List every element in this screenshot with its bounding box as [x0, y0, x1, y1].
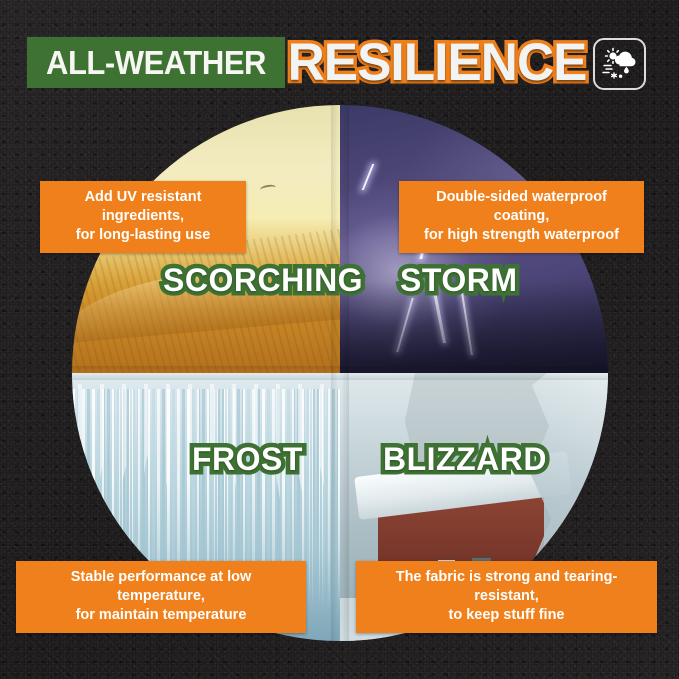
quadrant-title-blizzard: BLIZZARD [383, 441, 547, 478]
caption-frost: Stable performance at low temperature, f… [16, 561, 306, 633]
weather-icon-button[interactable] [593, 38, 646, 90]
weather-sun-cloud-rain-snow-icon [602, 47, 638, 81]
caption-blizzard: The fabric is strong and tearing-resista… [356, 561, 657, 633]
header: ALL-WEATHER RESILIENCE [0, 0, 679, 105]
quadrant-title-storm: STORM [400, 262, 517, 299]
caption-scorching: Add UV resistant ingredients, for long-l… [40, 181, 246, 253]
quadrant-title-frost: FROST [192, 441, 303, 478]
header-highlight-word: RESILIENCE [288, 27, 587, 99]
caption-storm: Double-sided waterproof coating, for hig… [399, 181, 644, 253]
header-green-banner: ALL-WEATHER [27, 37, 285, 88]
quadrant-title-scorching: SCORCHING [163, 262, 363, 299]
header-banner-label: ALL-WEATHER [46, 44, 266, 82]
